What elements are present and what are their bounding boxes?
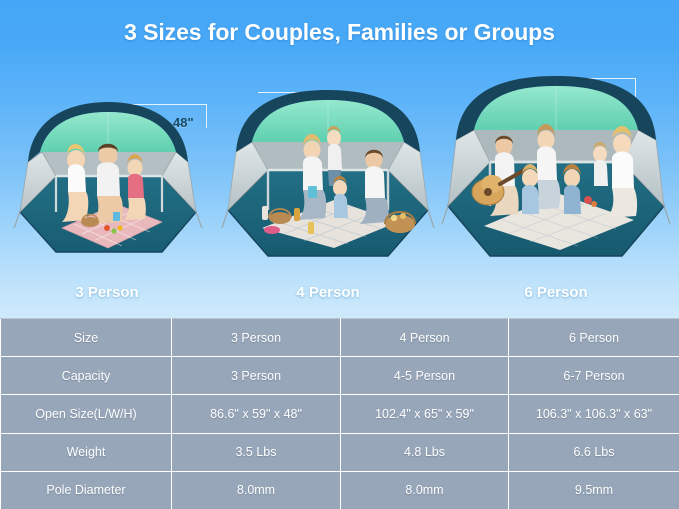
tent-label-6-person: 6 Person	[442, 284, 670, 301]
spec-comparison-table: Size 3 Person 4 Person 6 Person Capacity…	[0, 318, 679, 509]
table-row: Weight 3.5 Lbs 4.8 Lbs 6.6 Lbs	[1, 433, 679, 471]
cell-open-size-3-person: 86.6" x 59" x 48"	[172, 395, 341, 433]
tent-label-4-person: 4 Person	[222, 284, 434, 301]
tent-svg-4-person	[222, 88, 434, 278]
table-row: Open Size(L/W/H) 86.6" x 59" x 48" 102.4…	[1, 395, 679, 433]
cell-open-size-4-person: 102.4" x 65" x 59"	[341, 395, 509, 433]
cell-pole-diameter-3-person: 8.0mm	[172, 471, 341, 509]
row-header-weight: Weight	[1, 433, 172, 471]
cell-capacity-3-person: 3 Person	[172, 357, 341, 395]
tent-image-3-person	[12, 100, 202, 275]
table-row: Size 3 Person 4 Person 6 Person	[1, 319, 679, 357]
infographic-page: 3 Sizes for Couples, Families or Groups …	[0, 0, 679, 509]
row-header-open-size: Open Size(L/W/H)	[1, 395, 172, 433]
cell-size-6-person: 6 Person	[509, 319, 679, 357]
cell-weight-4-person: 4.8 Lbs	[341, 433, 509, 471]
tent-image-6-person	[442, 74, 670, 279]
cell-weight-6-person: 6.6 Lbs	[509, 433, 679, 471]
row-header-pole-diameter: Pole Diameter	[1, 471, 172, 509]
page-title: 3 Sizes for Couples, Families or Groups	[0, 19, 679, 46]
table-row: Pole Diameter 8.0mm 8.0mm 9.5mm	[1, 471, 679, 509]
spec-table-body: Size 3 Person 4 Person 6 Person Capacity…	[1, 319, 679, 509]
cell-pole-diameter-6-person: 9.5mm	[509, 471, 679, 509]
tent-label-3-person: 3 Person	[12, 284, 202, 301]
row-header-capacity: Capacity	[1, 357, 172, 395]
cell-open-size-6-person: 106.3" x 106.3" x 63"	[509, 395, 679, 433]
cell-size-3-person: 3 Person	[172, 319, 341, 357]
row-header-size: Size	[1, 319, 172, 357]
cell-size-4-person: 4 Person	[341, 319, 509, 357]
tent-image-4-person	[222, 88, 434, 278]
cell-capacity-4-person: 4-5 Person	[341, 357, 509, 395]
cell-weight-3-person: 3.5 Lbs	[172, 433, 341, 471]
table-row: Capacity 3 Person 4-5 Person 6-7 Person	[1, 357, 679, 395]
cell-capacity-6-person: 6-7 Person	[509, 357, 679, 395]
bracket-side-line	[206, 104, 207, 128]
cell-pole-diameter-4-person: 8.0mm	[341, 471, 509, 509]
tent-svg-6-person	[442, 74, 670, 279]
hero-banner: 3 Sizes for Couples, Families or Groups …	[0, 0, 679, 318]
tent-svg-3-person	[12, 100, 202, 275]
